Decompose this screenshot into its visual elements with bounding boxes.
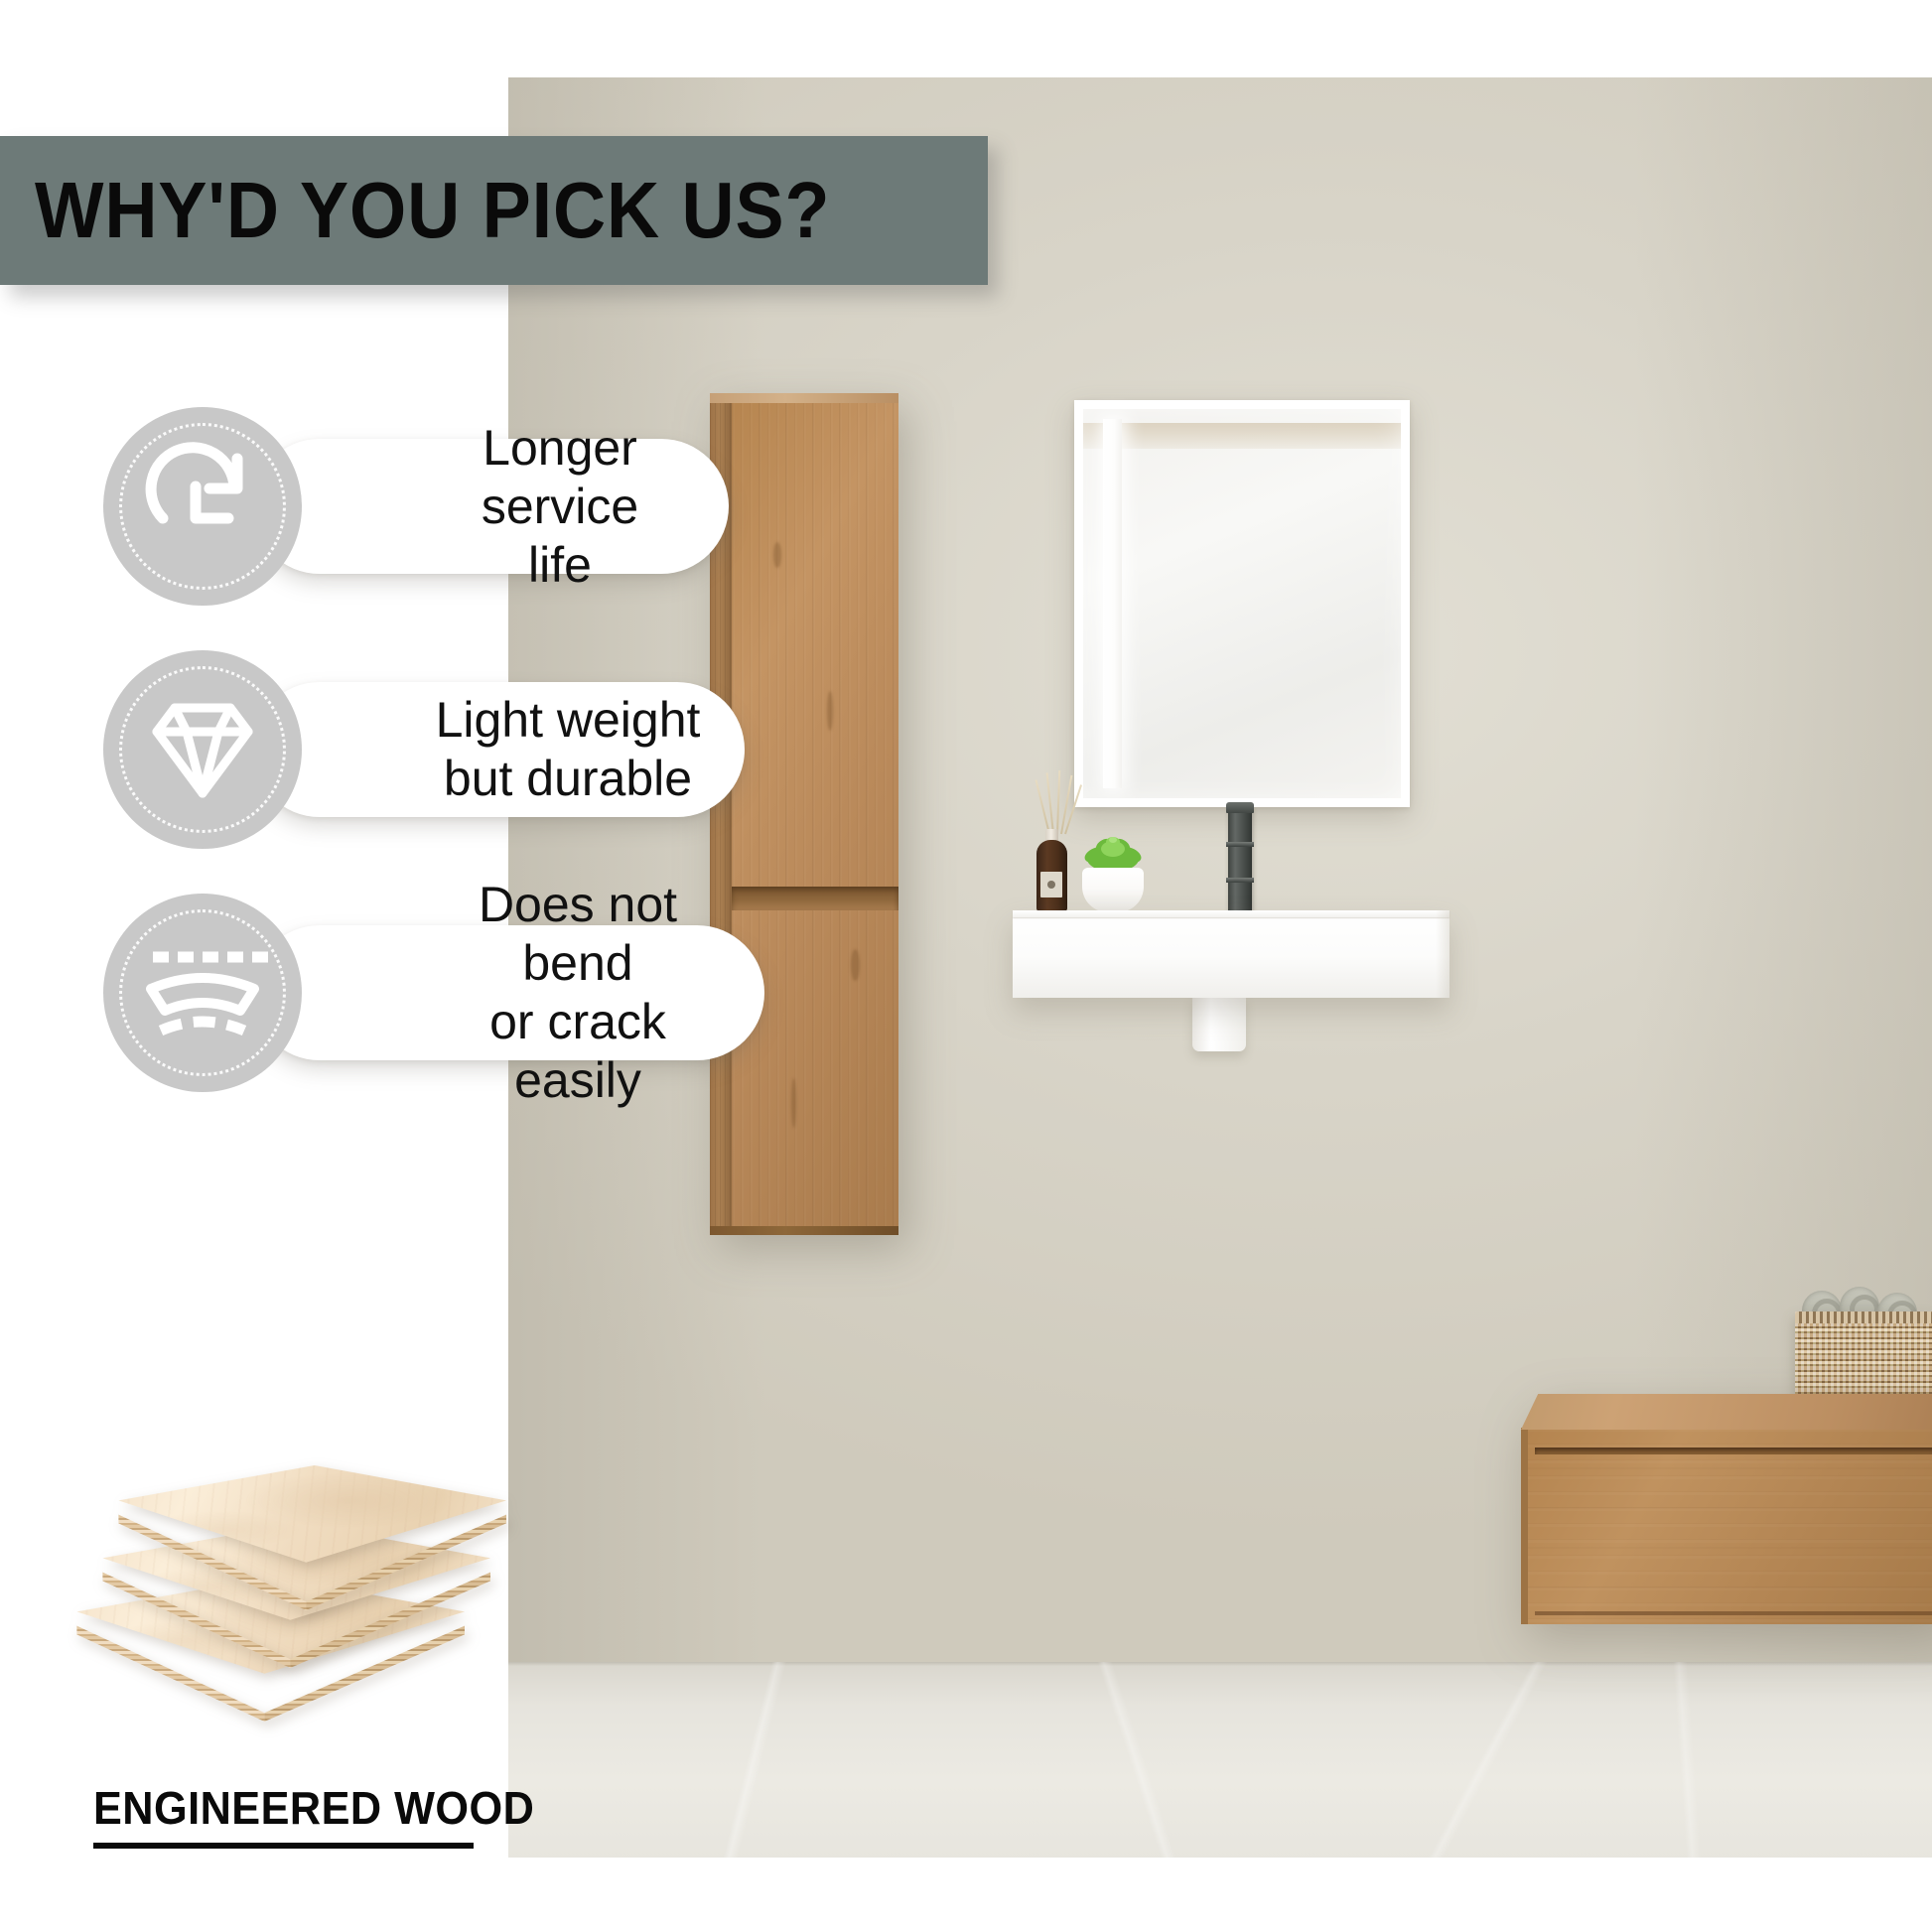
diamond-icon-badge bbox=[103, 650, 302, 849]
white-basin bbox=[1013, 910, 1449, 998]
oak-drawer-vanity bbox=[1521, 1394, 1932, 1624]
faucet-cap bbox=[1226, 802, 1254, 813]
mirror-reflection-band bbox=[1083, 423, 1401, 449]
diffuser-label bbox=[1040, 872, 1062, 897]
material-label-underline bbox=[93, 1843, 474, 1849]
vanity-bottom-line bbox=[1535, 1611, 1932, 1615]
header-banner: WHY'D YOU PICK US? bbox=[0, 136, 988, 285]
plant-pot bbox=[1082, 868, 1144, 912]
infographic-canvas: WHY'D YOU PICK US? Longer service life L… bbox=[0, 0, 1932, 1932]
page-title: WHY'D YOU PICK US? bbox=[0, 171, 830, 250]
feature-pill: Does not bend or crack easily bbox=[252, 925, 764, 1060]
plywood-grain bbox=[89, 1465, 506, 1569]
vanity-drawer-front bbox=[1521, 1428, 1932, 1624]
feature-pill: Longer service life bbox=[252, 439, 729, 574]
feature-does-not-bend-or-crack-easily[interactable]: Does not bend or crack easily bbox=[103, 894, 798, 1092]
feature-label: Light weight but durable bbox=[259, 691, 739, 808]
faucet-ring bbox=[1226, 878, 1254, 883]
flex-board-icon bbox=[137, 927, 268, 1058]
mirror-glass bbox=[1083, 409, 1401, 798]
tall-cabinet-top bbox=[710, 393, 898, 403]
plywood-stack bbox=[48, 1457, 514, 1735]
flex-board-icon-badge bbox=[103, 894, 302, 1092]
mirror-led-strip bbox=[1103, 419, 1122, 788]
basket-weave bbox=[1795, 1311, 1932, 1407]
material-label: ENGINEERED WOOD bbox=[93, 1783, 458, 1834]
wood-knot bbox=[773, 542, 781, 568]
basin-drain-pipe bbox=[1192, 996, 1246, 1051]
vanity-grain bbox=[1528, 1428, 1932, 1624]
faucet-ring bbox=[1226, 842, 1254, 847]
floor-veining bbox=[506, 1662, 1932, 1858]
vanity-top-surface bbox=[1521, 1394, 1932, 1430]
material-label-block: ENGINEERED WOOD bbox=[93, 1783, 481, 1849]
feature-pill: Light weight but durable bbox=[252, 682, 745, 817]
faucet-body bbox=[1228, 807, 1252, 921]
feature-longer-service-life[interactable]: Longer service life bbox=[103, 407, 759, 606]
wood-knot bbox=[851, 949, 860, 981]
feature-label: Does not bend or crack easily bbox=[252, 876, 764, 1110]
wood-knot bbox=[827, 691, 833, 731]
feature-label: Longer service life bbox=[252, 419, 729, 595]
feature-light-weight-but-durable[interactable]: Light weight but durable bbox=[103, 650, 759, 849]
diamond-icon bbox=[137, 684, 268, 815]
clock-refresh-icon-badge bbox=[103, 407, 302, 606]
led-mirror bbox=[1074, 400, 1410, 807]
plywood-face bbox=[89, 1465, 506, 1569]
wicker-basket bbox=[1795, 1311, 1932, 1407]
clock-refresh-icon bbox=[137, 441, 268, 572]
basket-rim bbox=[1795, 1311, 1932, 1323]
tall-cabinet-bottom bbox=[710, 1226, 898, 1235]
basin-right-edge bbox=[1436, 910, 1449, 998]
plywood-slab-top bbox=[89, 1465, 506, 1614]
basin-lip bbox=[1013, 910, 1449, 917]
vanity-handle-gap bbox=[1535, 1448, 1932, 1454]
